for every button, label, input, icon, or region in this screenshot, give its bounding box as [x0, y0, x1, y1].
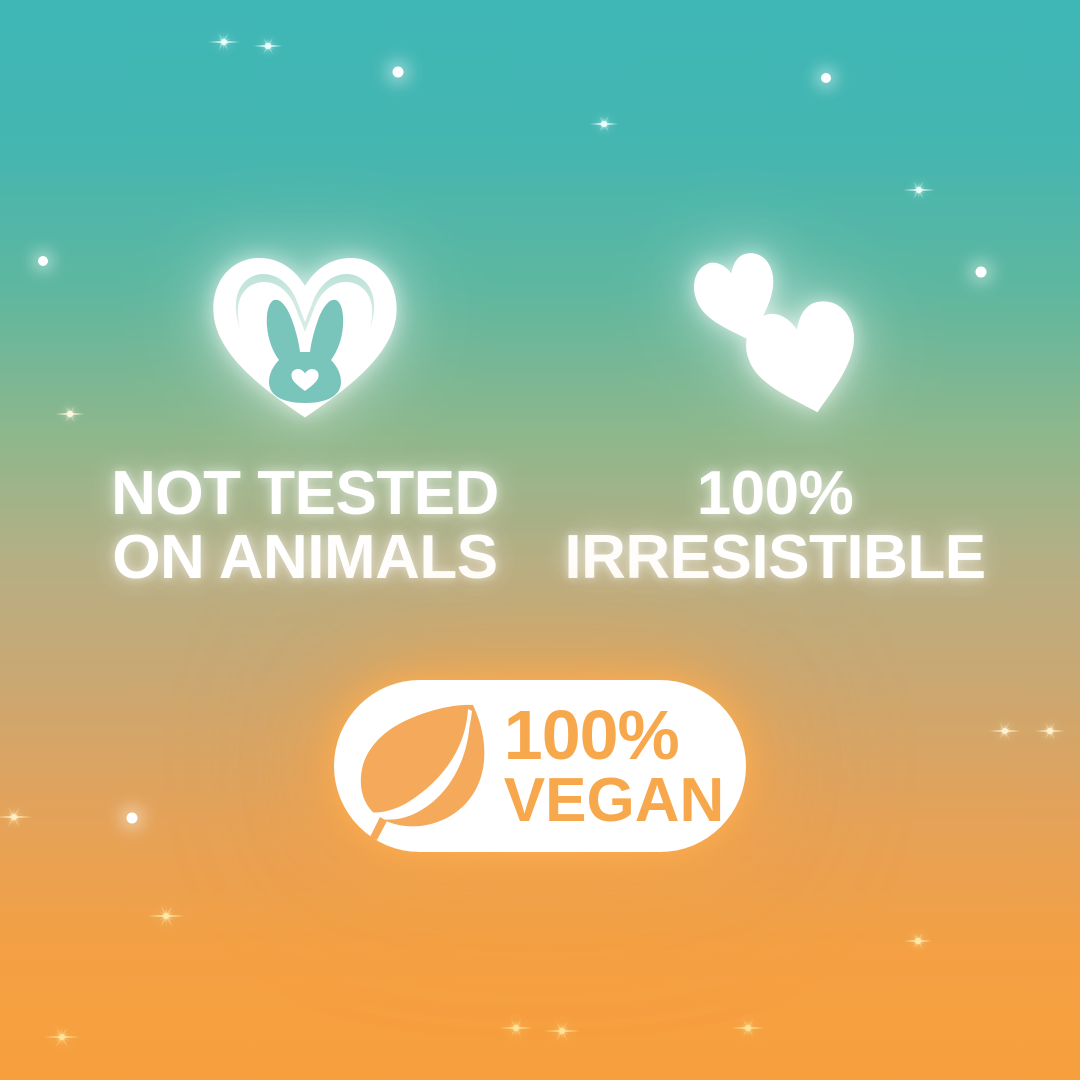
promo-graphic: NOT TESTED ON ANIMALS 100% IRRESISTIBLE [0, 0, 1080, 1080]
bokeh-dot [127, 813, 138, 824]
bokeh-dot [821, 73, 831, 83]
vegan-percent: 100% [504, 703, 679, 767]
vegan-word: VEGAN [504, 772, 724, 829]
bokeh-dot [393, 67, 404, 78]
sparkle-icon [207, 25, 241, 59]
bunny-in-heart-icon-slot [211, 228, 399, 418]
badge-label-irresistible: 100% IRRESISTIBLE [564, 462, 985, 590]
leaf-icon [350, 693, 498, 843]
bunny-in-heart-icon [211, 254, 399, 418]
sparkle-icon [498, 1010, 534, 1046]
vegan-badge[interactable]: 100% VEGAN [334, 680, 746, 852]
badge-label-not-tested-on-animals: NOT TESTED ON ANIMALS [111, 462, 499, 590]
badge-irresistible: 100% IRRESISTIBLE [540, 228, 1010, 590]
sparkle-icon [0, 798, 33, 836]
sparkle-icon [146, 896, 186, 936]
sparkle-icon [902, 173, 936, 207]
badge-not-tested-on-animals: NOT TESTED ON ANIMALS [70, 228, 540, 590]
badge-row: NOT TESTED ON ANIMALS 100% IRRESISTIBLE [0, 228, 1080, 590]
sparkle-icon [730, 1010, 766, 1046]
two-hearts-icon-slot [677, 228, 873, 418]
two-hearts-icon [677, 242, 873, 418]
sparkle-icon [43, 1018, 81, 1056]
sparkle-icon [903, 926, 933, 956]
vegan-text: 100% VEGAN [504, 703, 724, 828]
sparkle-icon [589, 109, 619, 139]
sparkle-icon [988, 714, 1022, 748]
sparkle-icon [543, 1012, 581, 1050]
vegan-pill[interactable]: 100% VEGAN [334, 680, 746, 852]
sparkle-icon [1034, 715, 1066, 747]
sparkle-icon [253, 31, 283, 61]
